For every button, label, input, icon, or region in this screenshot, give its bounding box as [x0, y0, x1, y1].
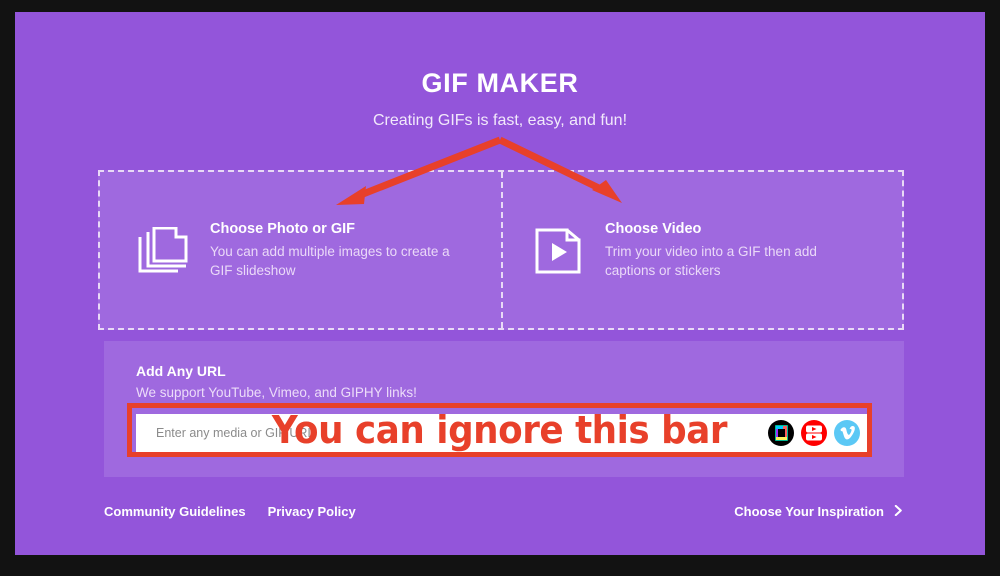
choose-photo-description: You can add multiple images to create a … — [210, 242, 460, 280]
choose-photo-card-text: Choose Photo or GIF You can add multiple… — [210, 221, 460, 280]
video-file-play-icon — [533, 227, 585, 275]
choose-video-description: Trim your video into a GIF then add capt… — [605, 242, 855, 280]
youtube-icon[interactable] — [801, 420, 827, 446]
choose-video-card[interactable]: Choose Video Trim your video into a GIF … — [501, 172, 902, 328]
photos-stack-icon — [138, 227, 190, 275]
giphy-icon[interactable] — [768, 420, 794, 446]
url-input-row[interactable] — [136, 414, 872, 452]
chevron-right-icon — [893, 504, 904, 519]
choose-photo-or-gif-card[interactable]: Choose Photo or GIF You can add multiple… — [100, 172, 501, 328]
privacy-policy-link[interactable]: Privacy Policy — [268, 504, 356, 519]
add-url-subtitle: We support YouTube, Vimeo, and GIPHY lin… — [136, 385, 872, 400]
gif-maker-page: GIF MAKER Creating GIFs is fast, easy, a… — [15, 12, 985, 555]
choose-photo-title: Choose Photo or GIF — [210, 221, 460, 237]
upload-chooser: Choose Photo or GIF You can add multiple… — [98, 170, 904, 330]
page-footer: Community Guidelines Privacy Policy Choo… — [104, 504, 904, 519]
page-subtitle: Creating GIFs is fast, easy, and fun! — [15, 99, 985, 130]
add-url-title: Add Any URL — [136, 363, 872, 379]
choose-your-inspiration-label: Choose Your Inspiration — [734, 504, 884, 519]
page-title: GIF MAKER — [15, 12, 985, 99]
community-guidelines-link[interactable]: Community Guidelines — [104, 504, 246, 519]
url-input[interactable] — [154, 425, 768, 441]
vimeo-icon[interactable] — [834, 420, 860, 446]
add-url-panel: Add Any URL We support YouTube, Vimeo, a… — [104, 341, 904, 477]
choose-video-card-text: Choose Video Trim your video into a GIF … — [605, 221, 855, 280]
supported-brand-icons — [768, 420, 860, 446]
screen-frame: GIF MAKER Creating GIFs is fast, easy, a… — [0, 0, 1000, 576]
footer-links: Community Guidelines Privacy Policy — [104, 504, 356, 519]
choose-your-inspiration-link[interactable]: Choose Your Inspiration — [734, 504, 904, 519]
choose-video-title: Choose Video — [605, 221, 855, 237]
page-header: GIF MAKER Creating GIFs is fast, easy, a… — [15, 12, 985, 130]
